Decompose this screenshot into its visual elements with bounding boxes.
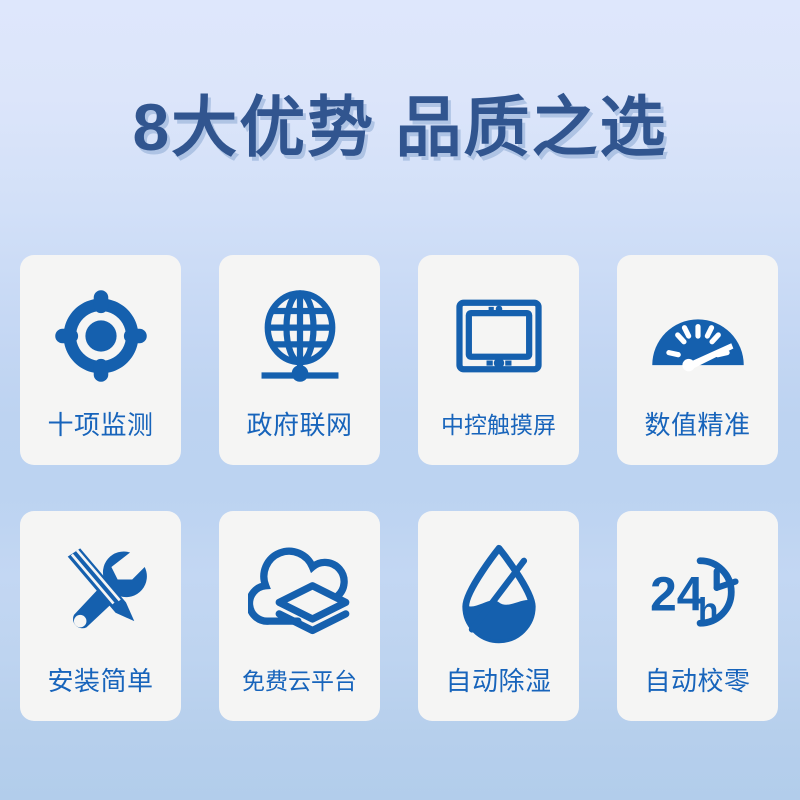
feature-poster: 8大优势 品质之选 十项监测 [0, 0, 800, 800]
feature-label: 安装简单 [47, 665, 153, 697]
feature-card-free-cloud-platform[interactable]: 免费云平台 [219, 511, 380, 721]
feature-label: 免费云平台 [242, 665, 357, 697]
tablet-touchscreen-icon [444, 281, 554, 391]
feature-label: 数值精准 [644, 409, 750, 441]
target-crosshair-icon [46, 281, 156, 391]
gauge-speedometer-icon [643, 281, 753, 391]
feature-card-ten-item-monitoring[interactable]: 十项监测 [20, 255, 181, 465]
feature-label: 中控触摸屏 [441, 409, 556, 441]
wrench-screwdriver-icon [46, 537, 156, 647]
hours-number: 24 [650, 569, 704, 622]
feature-label: 自动除湿 [445, 665, 551, 697]
feature-card-government-network[interactable]: 政府联网 [219, 255, 380, 465]
feature-card-grid: 十项监测 政府联网 [20, 255, 780, 721]
feature-card-easy-installation[interactable]: 安装简单 [20, 511, 181, 721]
water-drop-no-humidity-icon [444, 537, 554, 647]
feature-label: 自动校零 [644, 665, 750, 697]
feature-label: 十项监测 [47, 409, 153, 441]
cloud-layers-icon [245, 537, 355, 647]
twenty-four-hour-clock-icon: 24 h [643, 537, 753, 647]
hours-unit: h [698, 592, 718, 629]
globe-network-icon [245, 281, 355, 391]
feature-card-accurate-values[interactable]: 数值精准 [617, 255, 778, 465]
feature-label: 政府联网 [246, 409, 352, 441]
feature-card-auto-dehumidify[interactable]: 自动除湿 [418, 511, 579, 721]
feature-card-auto-zero-calibration[interactable]: 24 h 自动校零 [617, 511, 778, 721]
feature-card-central-touchscreen[interactable]: 中控触摸屏 [418, 255, 579, 465]
page-title: 8大优势 品质之选 [132, 86, 667, 168]
headline-container: 8大优势 品质之选 [0, 86, 800, 168]
